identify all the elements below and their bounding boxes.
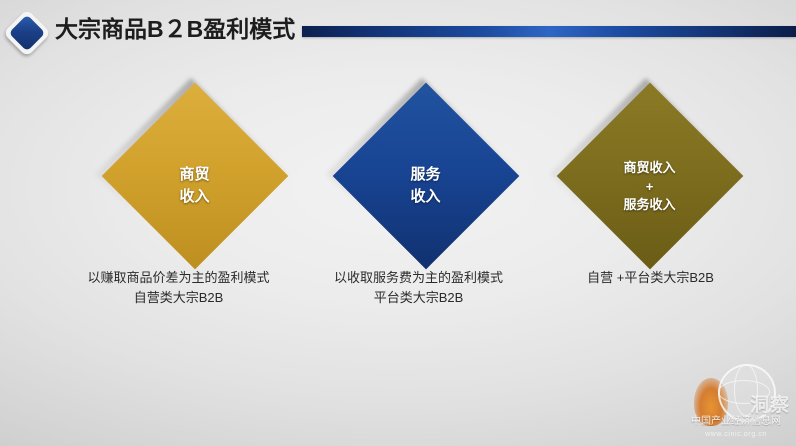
watermark-site-name: 中国产业经济信息网 xyxy=(680,412,792,427)
slide-header: 大宗商品B２B盈利模式 xyxy=(0,0,796,62)
caption-trade-revenue: 以赚取商品价差为主的盈利模式 自营类大宗B2B xyxy=(56,268,301,308)
header-accent-bar xyxy=(302,26,796,37)
diamond-shape-trade-revenue[interactable] xyxy=(101,83,288,270)
caption-line1: 以赚取商品价差为主的盈利模式 xyxy=(56,268,301,288)
diamond-stage: 商贸收入 + 服务收入 xyxy=(527,106,772,266)
diagram-column-trade-revenue: 商贸 收入 xyxy=(72,106,317,266)
page-title: 大宗商品B２B盈利模式 xyxy=(55,14,295,44)
diamond-shape-combined-revenue[interactable] xyxy=(556,83,743,270)
watermark: 洞察 中国产业经济信息网 www.cinic.org.cn xyxy=(680,360,792,444)
caption-line2: 自营类大宗B2B xyxy=(56,288,301,308)
caption-line2: 平台类大宗B2B xyxy=(296,288,541,308)
caption-line1: 自营 +平台类大宗B2B xyxy=(528,268,773,288)
diamond-bullet-icon xyxy=(8,14,48,54)
diamond-shape-service-revenue[interactable] xyxy=(332,83,519,270)
caption-service-revenue: 以收取服务费为主的盈利模式 平台类大宗B2B xyxy=(296,268,541,308)
caption-combined-revenue: 自营 +平台类大宗B2B xyxy=(528,268,773,288)
diagram-column-service-revenue: 服务 收入 xyxy=(303,106,548,266)
watermark-url: www.cinic.org.cn xyxy=(680,431,792,438)
diagram-column-combined-revenue: 商贸收入 + 服务收入 xyxy=(527,106,772,266)
diamond-stage: 服务 收入 xyxy=(303,106,548,266)
caption-line1: 以收取服务费为主的盈利模式 xyxy=(296,268,541,288)
diamond-stage: 商贸 收入 xyxy=(72,106,317,266)
slide-canvas: 大宗商品B２B盈利模式 商贸 收入 以赚取商品价差为主的盈利模式 自营类大宗B2… xyxy=(0,0,796,446)
